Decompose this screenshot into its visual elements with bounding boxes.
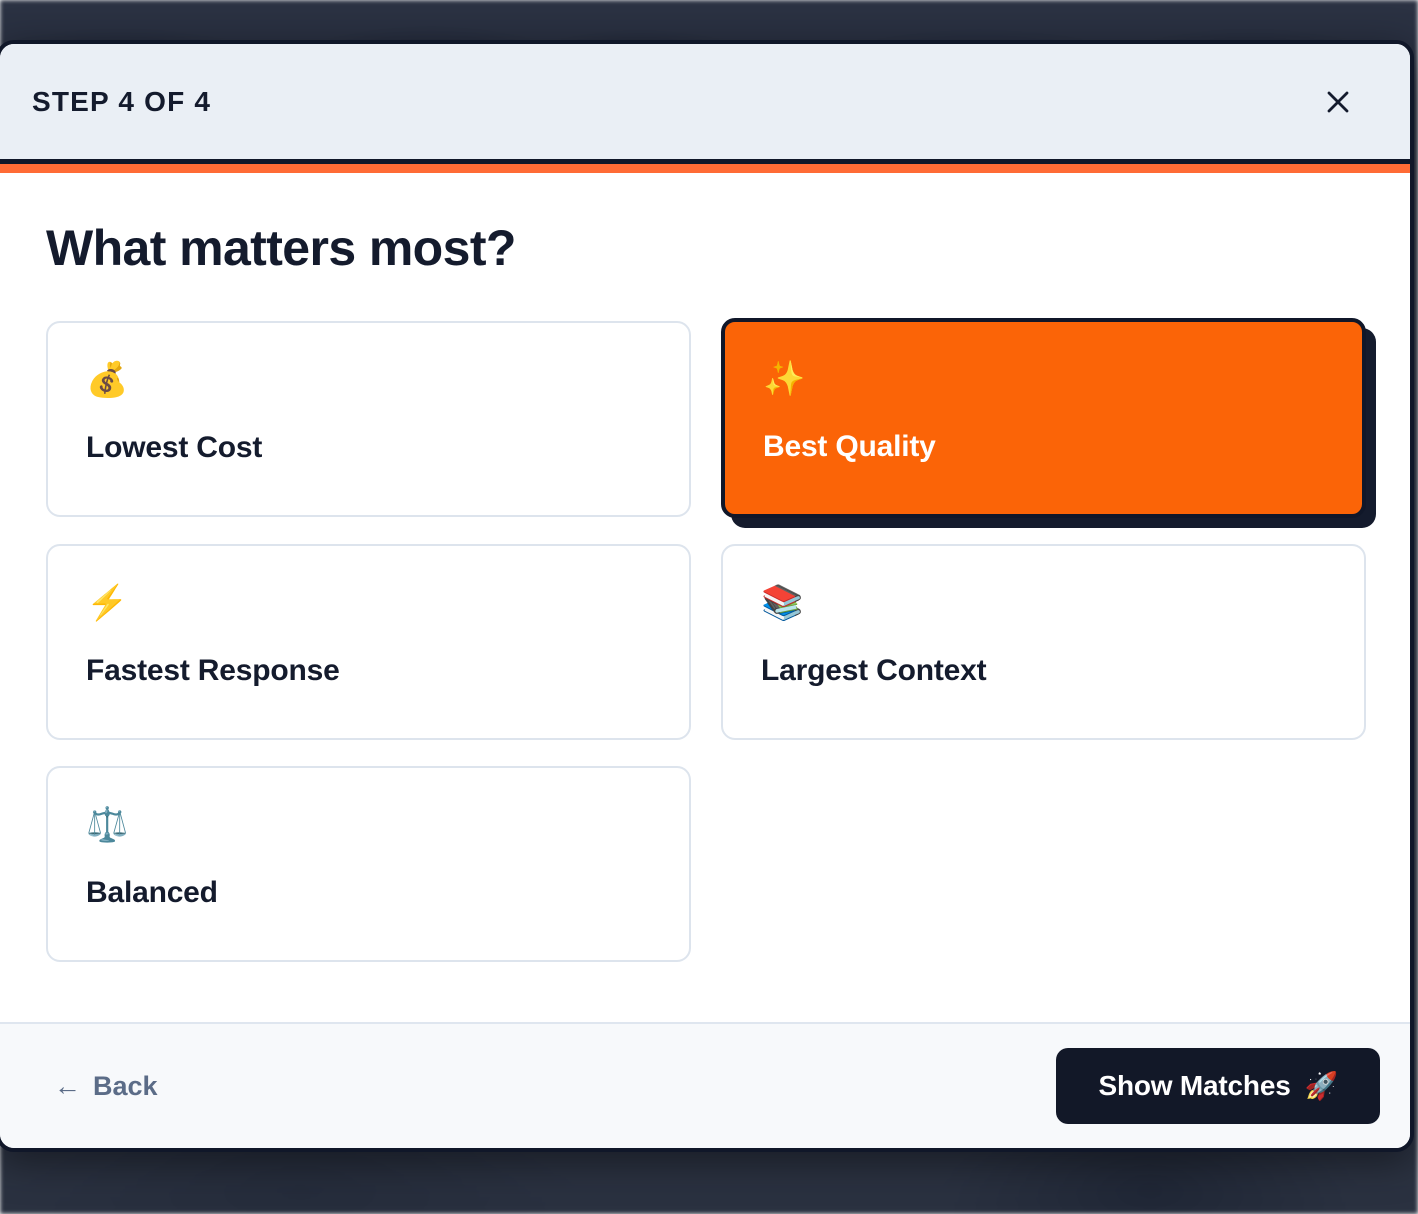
option-card-largest-context[interactable]: 📚 Largest Context	[721, 544, 1366, 740]
show-matches-button[interactable]: Show Matches 🚀	[1056, 1048, 1380, 1124]
options-grid: 💰 Lowest Cost ✨ Best Quality ⚡ Fastest R…	[46, 321, 1360, 962]
option-card-lowest-cost[interactable]: 💰 Lowest Cost	[46, 321, 691, 517]
option-label: Largest Context	[761, 654, 1326, 688]
arrow-left-icon: ←	[54, 1073, 81, 1100]
step-wizard-modal: STEP 4 OF 4 What matters most? 💰 Lowest …	[0, 40, 1414, 1152]
modal-header: STEP 4 OF 4	[0, 44, 1410, 164]
accent-bar	[0, 164, 1410, 173]
option-label: Best Quality	[763, 430, 1324, 464]
money-bag-emoji: 💰	[86, 359, 651, 405]
lightning-bolt-emoji: ⚡	[86, 582, 651, 628]
books-emoji: 📚	[761, 582, 1326, 628]
option-label: Balanced	[86, 876, 651, 910]
rocket-emoji: 🚀	[1305, 1073, 1338, 1100]
modal-body: What matters most? 💰 Lowest Cost ✨ Best …	[0, 173, 1410, 1022]
step-indicator: STEP 4 OF 4	[32, 86, 211, 118]
back-button[interactable]: ← Back	[54, 1071, 158, 1102]
option-card-balanced[interactable]: ⚖️ Balanced	[46, 766, 691, 962]
option-label: Lowest Cost	[86, 431, 651, 465]
option-card-best-quality[interactable]: ✨ Best Quality	[721, 318, 1366, 518]
back-button-label: Back	[93, 1071, 158, 1102]
close-button[interactable]	[1318, 82, 1358, 122]
sparkles-emoji: ✨	[763, 358, 1324, 404]
close-icon	[1325, 89, 1351, 115]
modal-footer: ← Back Show Matches 🚀	[0, 1022, 1410, 1148]
option-card-fastest-response[interactable]: ⚡ Fastest Response	[46, 544, 691, 740]
balance-scale-emoji: ⚖️	[86, 804, 651, 850]
show-matches-label: Show Matches	[1098, 1070, 1290, 1102]
page-title: What matters most?	[46, 219, 1360, 277]
option-label: Fastest Response	[86, 654, 651, 688]
